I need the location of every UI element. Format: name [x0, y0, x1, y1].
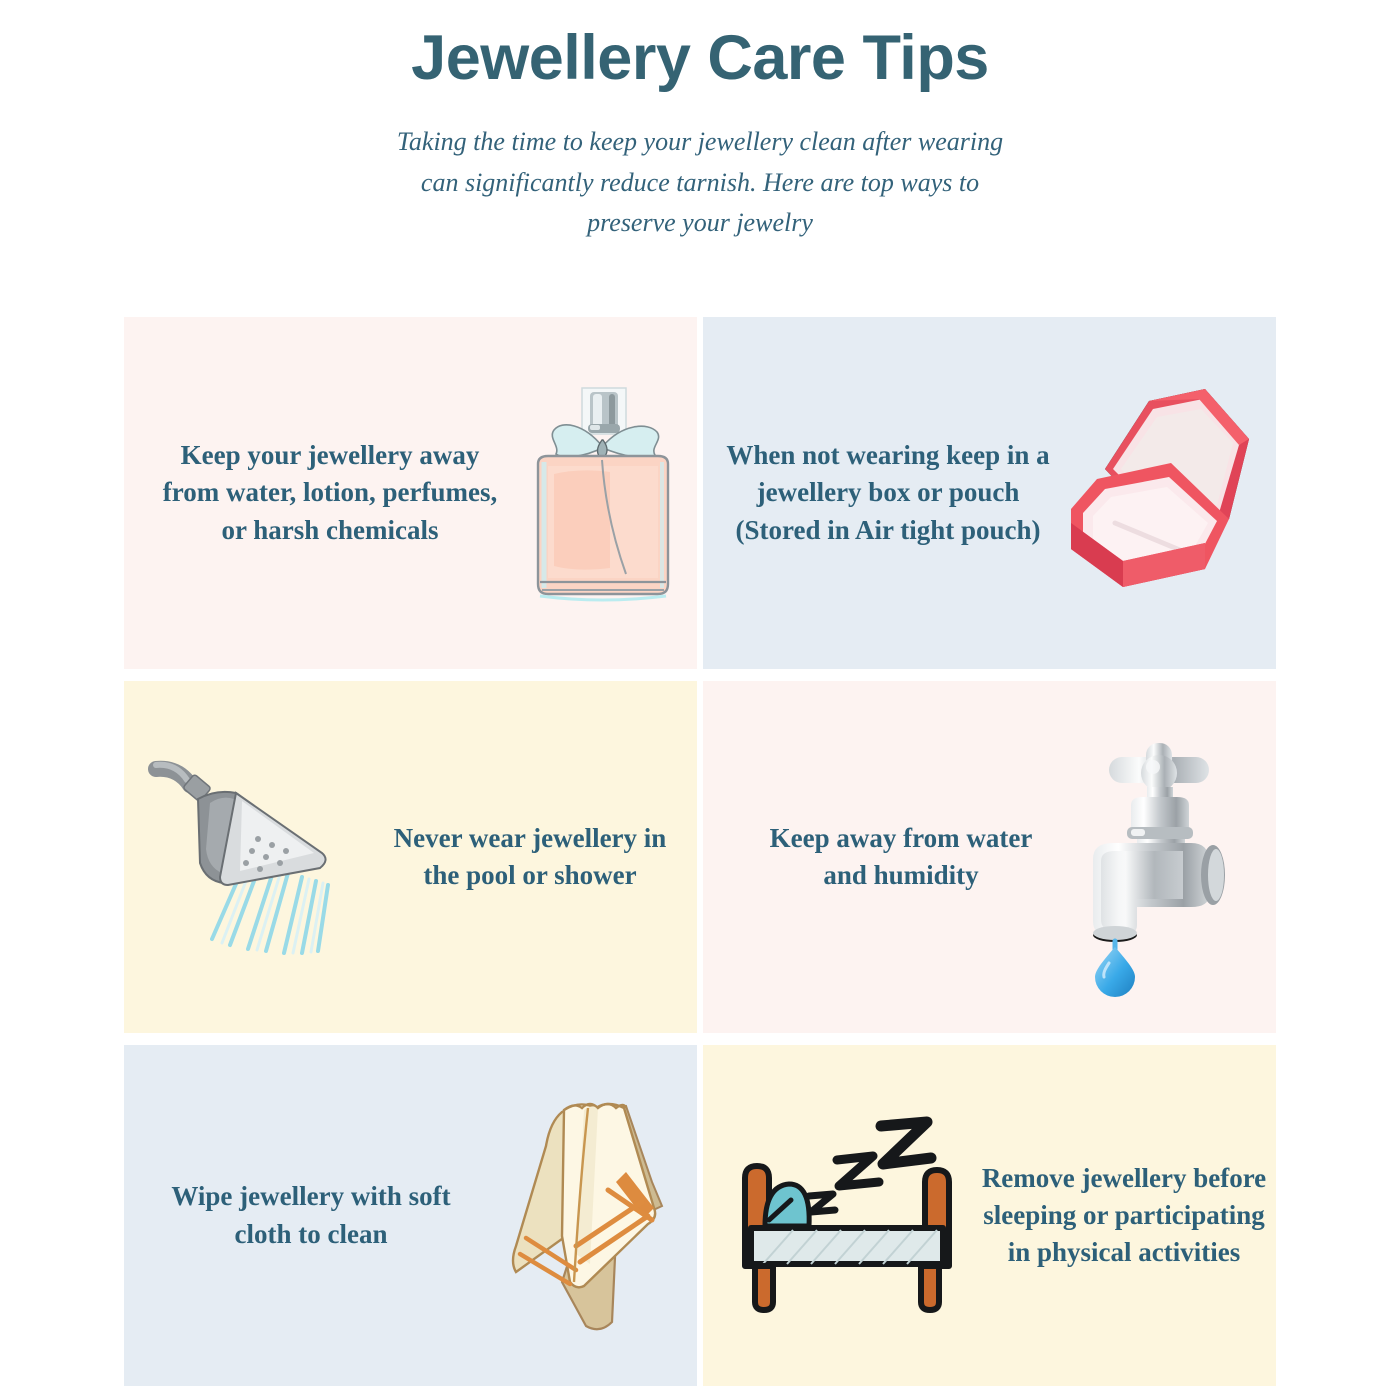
tip-card-3-text: Never wear jewellery in the pool or show… [380, 820, 680, 895]
tip-card-4-text: Keep away from water and humidity [751, 820, 1051, 895]
tip-card-5: Wipe jewellery with soft cloth to clean [124, 1045, 697, 1386]
tip-card-1-text: Keep your jewellery away from water, lot… [150, 437, 510, 549]
jewellery-box-icon [1053, 373, 1268, 613]
tip-card-6: Remove jewellery before sleeping or part… [703, 1045, 1276, 1386]
faucet-icon [1051, 735, 1266, 980]
bed-sleep-icon [729, 1116, 979, 1316]
tip-card-3: Never wear jewellery in the pool or show… [124, 681, 697, 1033]
tip-card-1: Keep your jewellery away from water, lot… [124, 317, 697, 669]
tip-card-2-text: When not wearing keep in a jewellery box… [723, 437, 1053, 549]
infographic-page: Jewellery Care Tips Taking the time to k… [0, 0, 1400, 1400]
tip-card-5-text: Wipe jewellery with soft cloth to clean [146, 1178, 476, 1253]
page-title: Jewellery Care Tips [0, 22, 1400, 94]
tips-grid: Keep your jewellery away from water, lot… [124, 317, 1276, 1386]
tip-card-2: When not wearing keep in a jewellery box… [703, 317, 1276, 669]
header: Jewellery Care Tips Taking the time to k… [0, 0, 1400, 243]
tip-card-6-text: Remove jewellery before sleeping or part… [979, 1160, 1269, 1272]
page-subtitle: Taking the time to keep your jewellery c… [390, 122, 1010, 243]
shower-head-icon [150, 747, 380, 967]
perfume-bottle-icon [510, 368, 695, 618]
tip-card-4: Keep away from water and humidity [703, 681, 1276, 1033]
cloth-icon [476, 1086, 697, 1346]
